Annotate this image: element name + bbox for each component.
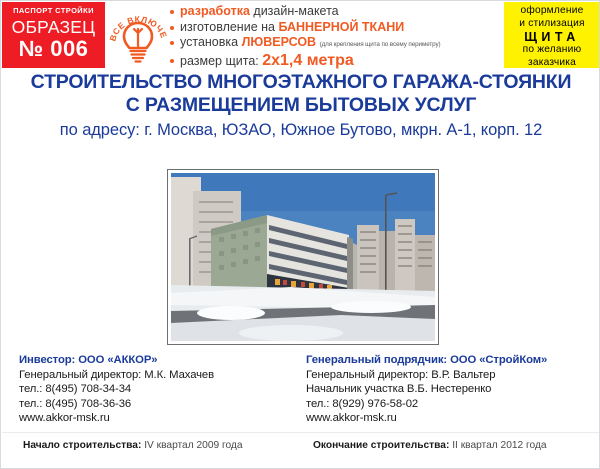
feature-item-3: установка ЛЮВЕРСОВ (для крепления щита п… bbox=[169, 35, 501, 53]
investor-website[interactable]: www.akkor-msk.ru bbox=[19, 411, 214, 426]
callout-line-5: заказчика bbox=[504, 57, 600, 70]
contacts-section: Инвестор: ООО «АККОР» Генеральный директ… bbox=[1, 353, 600, 427]
feature-4-size: 2х1,4 метра bbox=[262, 52, 354, 69]
construction-signboard: ПАСПОРТ СТРОЙКИ ОБРАЗЕЦ № 006 ВСЕ ВКЛЮЧЕ… bbox=[0, 0, 600, 469]
construction-photo bbox=[171, 173, 435, 341]
feature-item-2: изготовление на БАННЕРНОЙ ТКАНИ bbox=[169, 20, 501, 36]
page-title: СТРОИТЕЛЬСТВО МНОГОЭТАЖНОГО ГАРАЖА-СТОЯН… bbox=[1, 71, 600, 141]
title-address: по адресу: г. Москва, ЮЗАО, Южное Бутово… bbox=[1, 120, 600, 141]
title-line-1: СТРОИТЕЛЬСТВО МНОГОЭТАЖНОГО ГАРАЖА-СТОЯН… bbox=[1, 71, 600, 94]
footer-divider bbox=[2, 432, 600, 433]
investor-phone-1: тел.: 8(495) 708-34-34 bbox=[19, 382, 214, 397]
contractor-website[interactable]: www.akkor-msk.ru bbox=[306, 411, 547, 426]
feature-4-rest: размер щита: bbox=[180, 54, 262, 68]
contractor-phone: тел.: 8(929) 976-58-02 bbox=[306, 397, 547, 412]
sample-number: № 006 bbox=[2, 36, 105, 61]
lightbulb-icon: ВСЕ ВКЛЮЧЕНО bbox=[107, 3, 169, 67]
callout-line-4: по желанию bbox=[504, 44, 600, 57]
feature-list: разработка дизайн-макета изготовление на… bbox=[169, 4, 501, 66]
feature-item-4: размер щита: 2х1,4 метра bbox=[169, 53, 501, 70]
contractor-heading: Генеральный подрядчик: ООО «СтройКом» bbox=[306, 353, 547, 368]
construction-photo-frame bbox=[167, 169, 439, 345]
feature-2-strong: БАННЕРНОЙ ТКАНИ bbox=[278, 20, 404, 34]
investor-column: Инвестор: ООО «АККОР» Генеральный директ… bbox=[19, 353, 214, 426]
title-line-2: С РАЗМЕЩЕНИЕМ БЫТОВЫХ УСЛУГ bbox=[1, 94, 600, 117]
feature-item-1: разработка дизайн-макета bbox=[169, 4, 501, 20]
contractor-director: Генеральный директор: В.Р. Вальтер bbox=[306, 368, 547, 383]
construction-start-label: Начало строительства: bbox=[23, 440, 141, 451]
sample-badge: ПАСПОРТ СТРОЙКИ ОБРАЗЕЦ № 006 bbox=[2, 2, 105, 68]
sample-word: ОБРАЗЕЦ bbox=[2, 17, 105, 37]
callout-line-2: и стилизация bbox=[504, 18, 600, 31]
construction-end: Окончание строительства: II квартал 2012… bbox=[313, 439, 547, 453]
contractor-column: Генеральный подрядчик: ООО «СтройКом» Ге… bbox=[306, 353, 547, 426]
header-strip: ПАСПОРТ СТРОЙКИ ОБРАЗЕЦ № 006 ВСЕ ВКЛЮЧЕ… bbox=[1, 1, 600, 69]
investor-director: Генеральный директор: М.К. Махачев bbox=[19, 368, 214, 383]
customization-callout: оформление и стилизация ЩИТА по желанию … bbox=[504, 2, 600, 68]
sample-kicker: ПАСПОРТ СТРОЙКИ bbox=[2, 6, 105, 16]
construction-end-label: Окончание строительства: bbox=[313, 440, 449, 451]
callout-line-1: оформление bbox=[504, 5, 600, 18]
construction-start-value: IV квартал 2009 года bbox=[144, 440, 242, 451]
contractor-site-manager: Начальник участка В.Б. Нестеренко bbox=[306, 382, 547, 397]
feature-1-rest: дизайн-макета bbox=[250, 4, 339, 18]
callout-line-3: ЩИТА bbox=[504, 30, 600, 44]
feature-3-strong: ЛЮВЕРСОВ bbox=[242, 35, 317, 49]
investor-heading: Инвестор: ООО «АККОР» bbox=[19, 353, 214, 368]
construction-end-value: II квартал 2012 года bbox=[452, 440, 546, 451]
investor-phone-2: тел.: 8(495) 708-36-36 bbox=[19, 397, 214, 412]
construction-start: Начало строительства: IV квартал 2009 го… bbox=[23, 439, 243, 453]
feature-3-rest: установка bbox=[180, 35, 242, 49]
footer-dates: Начало строительства: IV квартал 2009 го… bbox=[1, 439, 600, 463]
feature-1-strong: разработка bbox=[180, 4, 250, 18]
feature-2-rest: изготовление на bbox=[180, 20, 278, 34]
feature-3-note: (для крепления щита по всему периметру) bbox=[320, 41, 441, 48]
